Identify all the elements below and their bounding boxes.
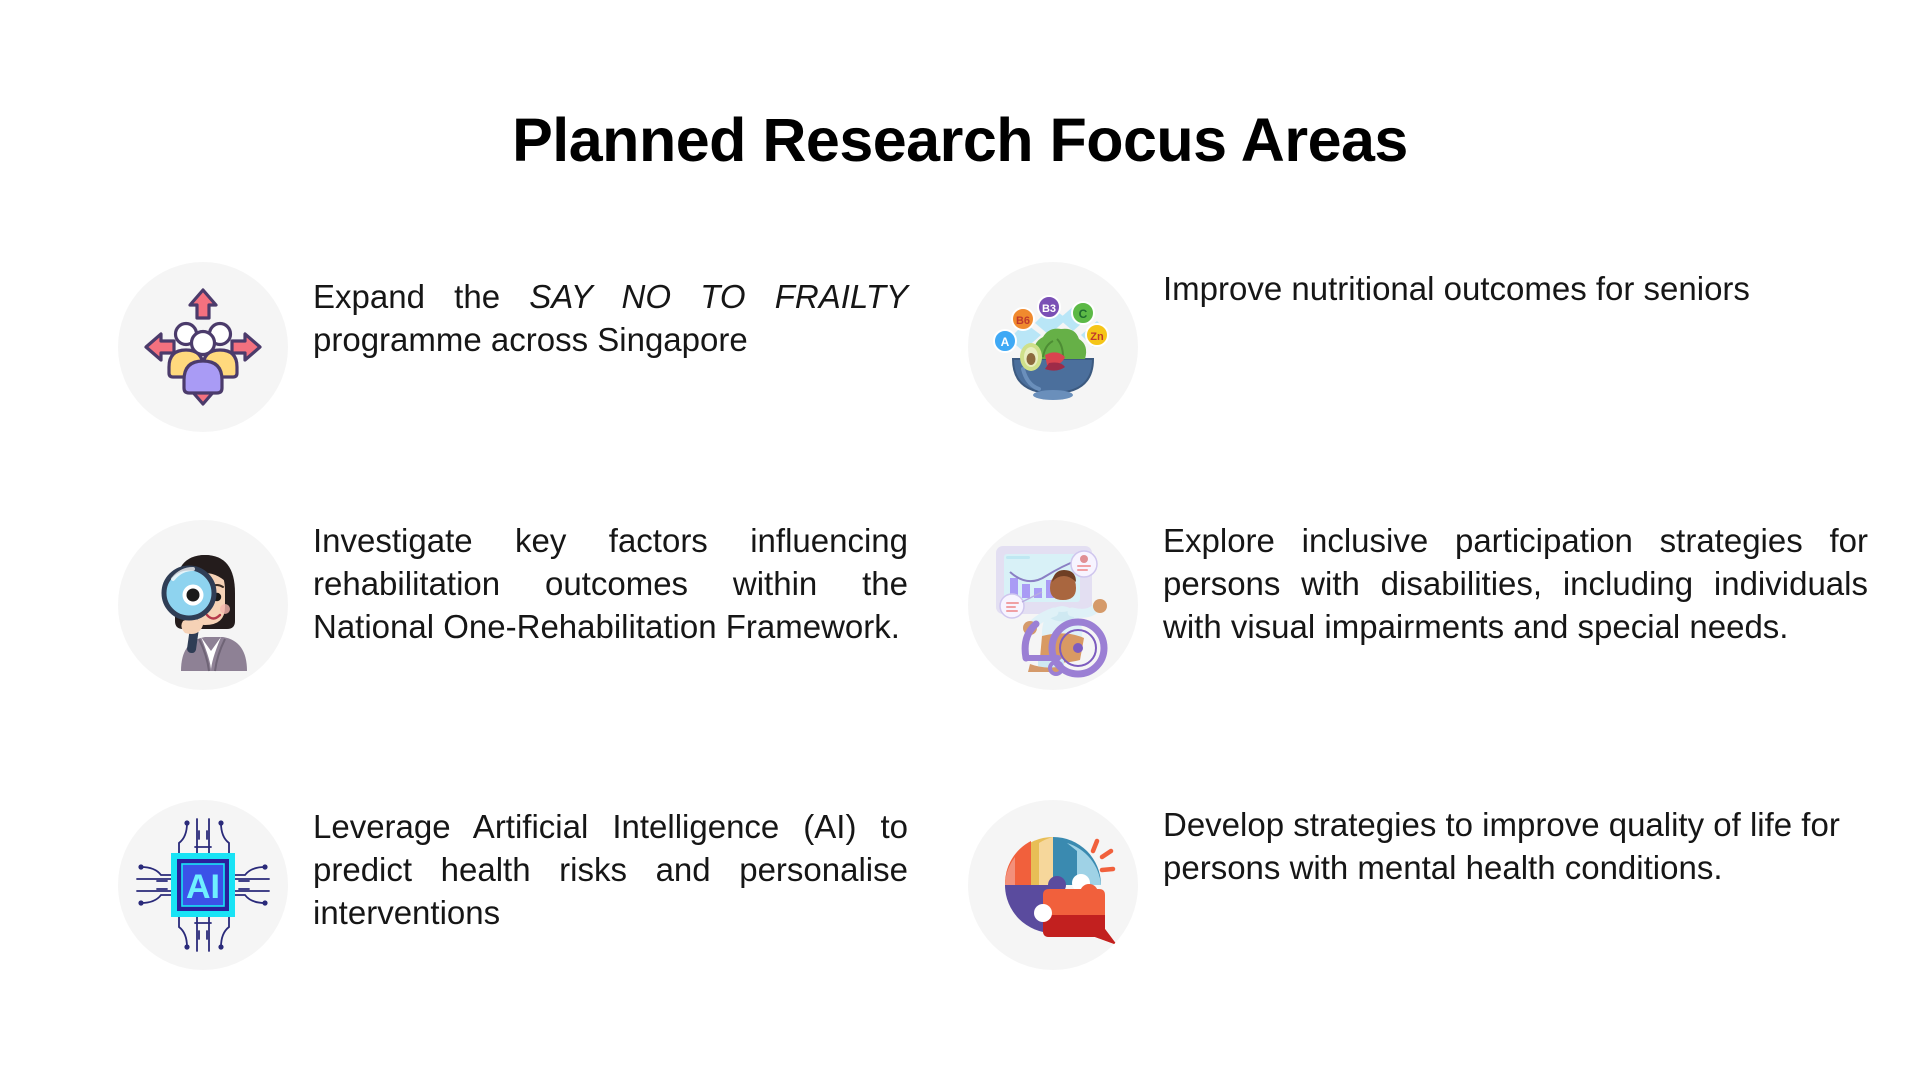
researcher-magnifying-glass-icon [118, 520, 288, 690]
ai-chip-icon: AI [118, 800, 288, 970]
focus-item-mental-health[interactable]: Develop strategies to improve quality of… [968, 800, 1868, 970]
svg-text:B6: B6 [1016, 315, 1030, 327]
wheelchair-presenter-chart-icon [968, 520, 1138, 690]
expand-group-arrows-icon [118, 262, 288, 432]
focus-item-text: Develop strategies to improve quality of… [1163, 800, 1868, 890]
slide-root: Planned Research Focus Areas [0, 0, 1920, 1080]
focus-areas-grid: Expand the SAY NO TO FRAILTY programme a… [0, 252, 1920, 992]
focus-text-before: Expand the [313, 278, 529, 315]
focus-item-text: Investigate key factors influencing reha… [313, 520, 908, 649]
focus-item-rehabilitation[interactable]: Investigate key factors influencing reha… [118, 520, 908, 690]
focus-item-text: Leverage Artificial Intelligence (AI) to… [313, 800, 908, 935]
focus-item-nutrition[interactable]: A B6 B3 C Zn Improve nutritional outcome… [968, 262, 1868, 432]
nutrition-bowl-vitamins-icon: A B6 B3 C Zn [968, 262, 1138, 432]
focus-item-expand-frailty[interactable]: Expand the SAY NO TO FRAILTY programme a… [118, 262, 908, 432]
svg-text:A: A [1001, 335, 1010, 349]
focus-item-artificial-intelligence[interactable]: AI Leverage Artificial Intelligence (AI)… [118, 800, 908, 970]
page-title: Planned Research Focus Areas [0, 108, 1920, 173]
mental-health-puzzle-speech-icon [968, 800, 1138, 970]
svg-text:AI: AI [186, 868, 220, 906]
focus-item-text: Expand the SAY NO TO FRAILTY programme a… [313, 262, 908, 362]
focus-item-text: Explore inclusive participation strategi… [1163, 520, 1868, 649]
svg-text:C: C [1079, 307, 1088, 321]
focus-item-inclusive-participation[interactable]: Explore inclusive participation strategi… [968, 520, 1868, 690]
focus-item-text: Improve nutritional outcomes for seniors [1163, 262, 1868, 311]
svg-text:Zn: Zn [1090, 331, 1104, 343]
focus-text-after: programme across Singapore [313, 321, 748, 358]
svg-text:B3: B3 [1042, 303, 1056, 315]
focus-text-emphasis: SAY NO TO FRAILTY [529, 278, 908, 315]
